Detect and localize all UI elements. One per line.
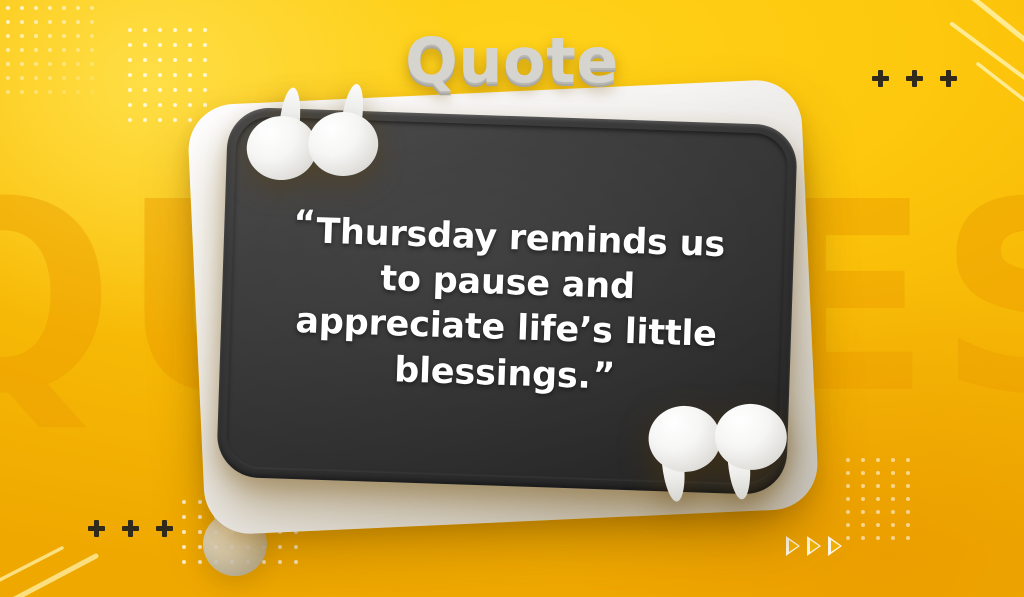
quote-line-1-text: Thursday reminds us	[316, 212, 726, 266]
quote-text-block: “Thursday reminds us to pause and apprec…	[216, 107, 798, 496]
quote-line-3: appreciate life’s little	[295, 299, 718, 358]
quote-poster: QUOTES	[0, 0, 1024, 597]
quote-open-mark: “	[293, 203, 316, 244]
card-stack: “Thursday reminds us to pause and apprec…	[0, 0, 1024, 597]
quote-line-4: blessings.”	[394, 347, 616, 400]
quote-close-mark: ”	[592, 355, 615, 396]
quote-line-1: “Thursday reminds us	[292, 202, 725, 268]
quote-line-4-text: blessings.	[394, 350, 592, 396]
card-front-dark: “Thursday reminds us to pause and apprec…	[216, 107, 798, 496]
